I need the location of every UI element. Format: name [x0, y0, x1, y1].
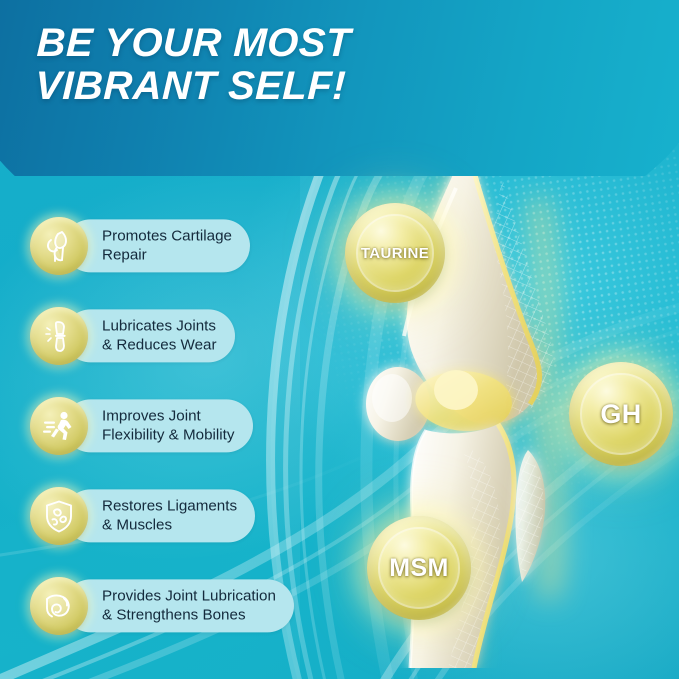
feature-chip: Provides Joint Lubrication & Strengthens… — [64, 579, 294, 632]
ingredient-badge-taurine: TAURINE — [345, 203, 445, 303]
ingredient-badge-label: TAURINE — [361, 245, 429, 262]
feature-item-lubricates-joints: Lubricates Joints & Reduces Wear — [30, 304, 360, 368]
ingredient-badge-label: GH — [600, 399, 641, 430]
feature-text-line-2: Flexibility & Mobility — [102, 426, 235, 445]
headline-line-1: BE YOUR MOST — [36, 21, 352, 65]
feature-text-line-2: Repair — [102, 246, 232, 265]
headline-line-2: VIBRANT SELF! — [35, 65, 351, 108]
feature-item-flexibility-mobility: Improves Joint Flexibility & Mobility — [30, 394, 360, 458]
feature-text-line-2: & Reduces Wear — [102, 336, 217, 355]
feature-chip: Improves Joint Flexibility & Mobility — [64, 399, 253, 452]
feature-text-line-1: Provides Joint Lubrication — [102, 586, 276, 605]
promotional-poster: BE YOUR MOST VIBRANT SELF! Promotes Cart… — [0, 0, 679, 679]
feature-text-line-1: Improves Joint — [102, 406, 235, 425]
shield-icon — [30, 487, 88, 545]
knee-joint-icon — [30, 217, 88, 275]
feature-item-cartilage-repair: Promotes Cartilage Repair — [30, 214, 360, 278]
feature-text-line-1: Promotes Cartilage — [102, 226, 232, 245]
joint-lubrication-icon — [30, 307, 88, 365]
ingredient-badge-msm: MSM — [367, 516, 471, 620]
flexed-bicep-icon — [30, 577, 88, 635]
feature-chip: Lubricates Joints & Reduces Wear — [64, 309, 235, 362]
feature-text-line-1: Restores Ligaments — [102, 496, 237, 515]
page-title: BE YOUR MOST VIBRANT SELF! — [35, 22, 352, 108]
feature-list: Promotes Cartilage Repair Lubricates Joi… — [30, 214, 360, 664]
feature-item-joint-lubrication-bones: Provides Joint Lubrication & Strengthens… — [30, 574, 360, 638]
feature-item-restores-ligaments: Restores Ligaments & Muscles — [30, 484, 360, 548]
feature-text-line-1: Lubricates Joints — [102, 316, 217, 335]
ingredient-badge-gh: GH — [569, 362, 673, 466]
ingredient-badge-label: MSM — [389, 554, 449, 583]
feature-chip: Restores Ligaments & Muscles — [64, 489, 255, 542]
running-person-icon — [30, 397, 88, 455]
feature-text-line-2: & Strengthens Bones — [102, 606, 276, 625]
feature-text-line-2: & Muscles — [102, 516, 237, 535]
feature-chip: Promotes Cartilage Repair — [64, 219, 250, 272]
